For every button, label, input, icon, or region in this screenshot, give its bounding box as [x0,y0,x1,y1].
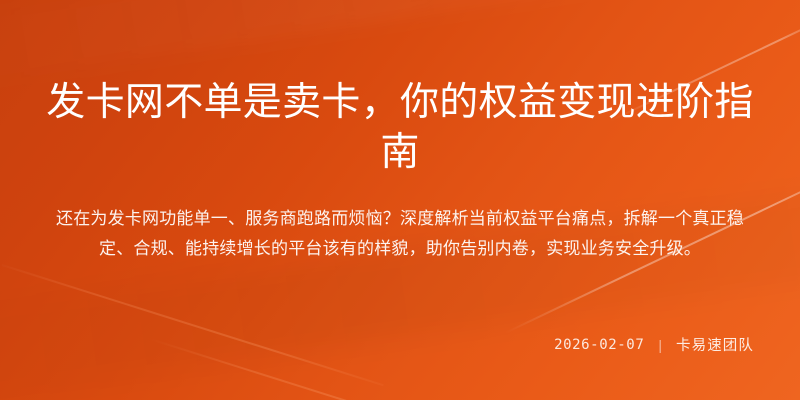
author-name: 卡易速团队 [676,334,754,355]
title-block: 发卡网不单是卖卡，你的权益变现进阶指南 还在为发卡网功能单一、服务商跑路而烦恼？… [34,78,766,264]
layout-spacer [34,264,766,334]
meta-separator: | [658,338,662,352]
publish-date: 2026-02-07 [554,337,644,353]
page-subtitle: 还在为发卡网功能单一、服务商跑路而烦恼？深度解析当前权益平台痛点，拆解一个真正稳… [41,204,759,264]
banner-content: 发卡网不单是卖卡，你的权益变现进阶指南 还在为发卡网功能单一、服务商跑路而烦恼？… [0,0,800,400]
meta-row: 2026-02-07 | 卡易速团队 [34,334,766,355]
cover-banner: 发卡网不单是卖卡，你的权益变现进阶指南 还在为发卡网功能单一、服务商跑路而烦恼？… [0,0,800,400]
page-title: 发卡网不单是卖卡，你的权益变现进阶指南 [34,78,766,178]
